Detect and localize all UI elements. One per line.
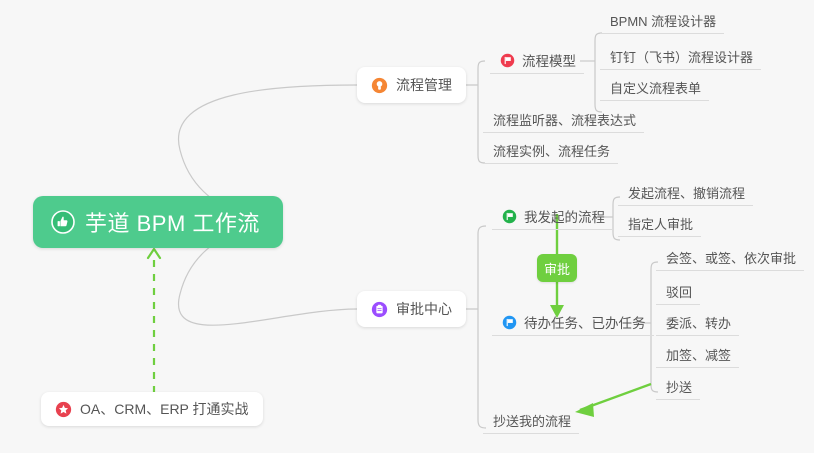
- dashed-arrow-bottom-to-root: [148, 249, 160, 393]
- leaf-countersign[interactable]: 会签、或签、依次审批: [656, 245, 804, 271]
- leaf-label: 指定人审批: [628, 214, 693, 233]
- node-process-listener[interactable]: 流程监听器、流程表达式: [483, 107, 644, 133]
- leaf-label: 会签、或签、依次审批: [666, 248, 796, 267]
- star-icon: [55, 401, 72, 418]
- leaf-label: BPMN 流程设计器: [610, 11, 716, 30]
- root-label: 芋道 BPM 工作流: [85, 206, 260, 238]
- leaf-label: 抄送我的流程: [493, 411, 571, 430]
- leaf-dingtalk-feishu-designer[interactable]: 钉钉（飞书）流程设计器: [600, 44, 761, 70]
- branch-process-management-label: 流程管理: [396, 75, 452, 95]
- leaf-label: 委派、转办: [666, 313, 731, 332]
- leaf-label: 流程监听器、流程表达式: [493, 110, 636, 129]
- node-cc-to-me-process[interactable]: 抄送我的流程: [483, 408, 579, 434]
- flag-icon: [500, 53, 515, 68]
- leaf-cc[interactable]: 抄送: [656, 374, 700, 400]
- node-my-started-process[interactable]: 我发起的流程: [492, 203, 613, 230]
- mindmap-canvas: 芋道 BPM 工作流 流程管理 流程模型 BPMN 流程设计器 钉钉（飞书）流程…: [0, 0, 814, 453]
- clipboard-icon: [371, 301, 388, 318]
- node-integration-practice[interactable]: OA、CRM、ERP 打通实战: [41, 392, 263, 426]
- leaf-label: 钉钉（飞书）流程设计器: [610, 47, 753, 66]
- node-process-model-label: 流程模型: [522, 50, 576, 70]
- node-todo-done-tasks[interactable]: 待办任务、已办任务: [492, 309, 654, 336]
- leaf-custom-form[interactable]: 自定义流程表单: [600, 75, 709, 101]
- approval-tag-label: 审批: [544, 259, 570, 278]
- leaf-label: 发起流程、撤销流程: [628, 183, 745, 202]
- leaf-delegate-transfer[interactable]: 委派、转办: [656, 310, 739, 336]
- branch-approval-center[interactable]: 审批中心: [357, 291, 466, 327]
- lightbulb-icon: [371, 77, 388, 94]
- branch-process-management[interactable]: 流程管理: [357, 67, 466, 103]
- leaf-bpmn-designer[interactable]: BPMN 流程设计器: [600, 8, 724, 34]
- wire-ac-bracket: [478, 226, 486, 428]
- green-arrow-cc: [575, 384, 651, 417]
- thumbs-up-icon: [51, 210, 75, 234]
- node-todo-done-tasks-label: 待办任务、已办任务: [524, 312, 646, 332]
- flag-icon: [502, 315, 517, 330]
- leaf-assignee-approval[interactable]: 指定人审批: [618, 211, 701, 237]
- node-process-instance[interactable]: 流程实例、流程任务: [483, 138, 618, 164]
- flag-icon: [502, 209, 517, 224]
- leaf-start-cancel-process[interactable]: 发起流程、撤销流程: [618, 180, 753, 206]
- leaf-reject[interactable]: 驳回: [656, 279, 700, 305]
- leaf-label: 驳回: [666, 282, 692, 301]
- approval-tag[interactable]: 审批: [537, 254, 577, 282]
- leaf-add-remove-sign[interactable]: 加签、减签: [656, 342, 739, 368]
- leaf-label: 加签、减签: [666, 345, 731, 364]
- leaf-label: 自定义流程表单: [610, 78, 701, 97]
- leaf-label: 流程实例、流程任务: [493, 141, 610, 160]
- node-process-model[interactable]: 流程模型: [490, 47, 584, 74]
- root-node[interactable]: 芋道 BPM 工作流: [33, 196, 283, 248]
- branch-approval-center-label: 审批中心: [396, 299, 452, 319]
- node-integration-practice-label: OA、CRM、ERP 打通实战: [80, 399, 249, 419]
- leaf-label: 抄送: [666, 377, 692, 396]
- node-my-started-process-label: 我发起的流程: [524, 206, 605, 226]
